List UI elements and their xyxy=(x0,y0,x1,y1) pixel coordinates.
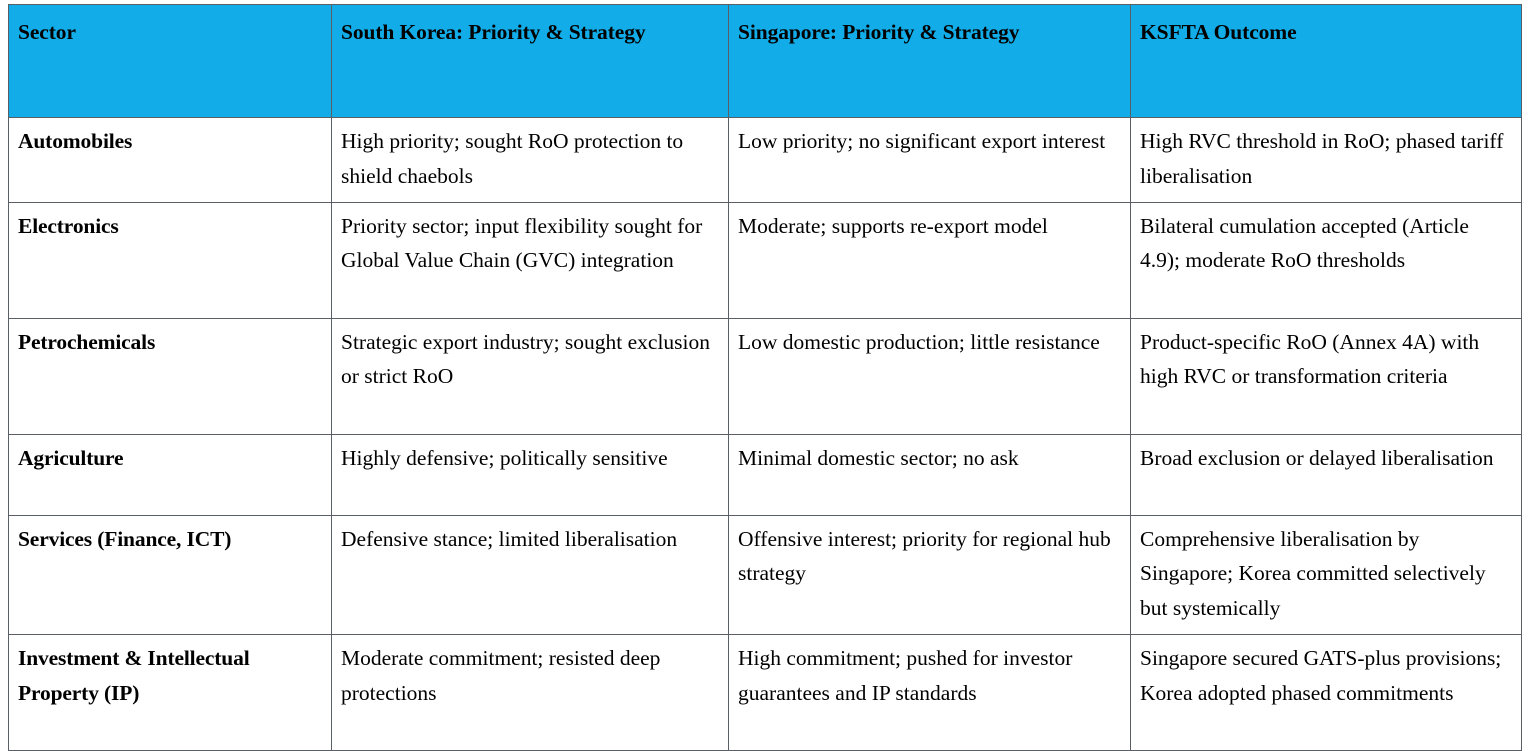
column-header-sector: Sector xyxy=(9,5,332,118)
table-row: Services (Finance, ICT) Defensive stance… xyxy=(9,515,1522,634)
table-row: Electronics Priority sector; input flexi… xyxy=(9,202,1522,318)
column-header-ksfta-outcome: KSFTA Outcome xyxy=(1131,5,1522,118)
cell-south-korea: High priority; sought RoO protection to … xyxy=(332,118,729,203)
cell-ksfta-outcome: Comprehensive liberalisation by Singapor… xyxy=(1131,515,1522,634)
cell-singapore: High commitment; pushed for investor gua… xyxy=(729,635,1131,751)
table-header: Sector South Korea: Priority & Strategy … xyxy=(9,5,1522,118)
cell-ksfta-outcome: High RVC threshold in RoO; phased tariff… xyxy=(1131,118,1522,203)
cell-sector: Electronics xyxy=(9,202,332,318)
cell-sector: Investment & Intellectual Property (IP) xyxy=(9,635,332,751)
cell-south-korea: Moderate commitment; resisted deep prote… xyxy=(332,635,729,751)
column-header-singapore: Singapore: Priority & Strategy xyxy=(729,5,1131,118)
cell-ksfta-outcome: Product-specific RoO (Annex 4A) with hig… xyxy=(1131,318,1522,434)
cell-south-korea: Defensive stance; limited liberalisation xyxy=(332,515,729,634)
table-header-row: Sector South Korea: Priority & Strategy … xyxy=(9,5,1522,118)
cell-sector: Agriculture xyxy=(9,434,332,515)
cell-ksfta-outcome: Singapore secured GATS-plus provisions; … xyxy=(1131,635,1522,751)
table-row: Agriculture Highly defensive; politicall… xyxy=(9,434,1522,515)
table-row: Automobiles High priority; sought RoO pr… xyxy=(9,118,1522,203)
cell-singapore: Offensive interest; priority for regiona… xyxy=(729,515,1131,634)
cell-singapore: Minimal domestic sector; no ask xyxy=(729,434,1131,515)
column-header-south-korea: South Korea: Priority & Strategy xyxy=(332,5,729,118)
cell-singapore: Low domestic production; little resistan… xyxy=(729,318,1131,434)
cell-sector: Petrochemicals xyxy=(9,318,332,434)
sector-comparison-table-wrapper: Sector South Korea: Priority & Strategy … xyxy=(8,4,1521,751)
cell-ksfta-outcome: Broad exclusion or delayed liberalisatio… xyxy=(1131,434,1522,515)
cell-ksfta-outcome: Bilateral cumulation accepted (Article 4… xyxy=(1131,202,1522,318)
cell-south-korea: Strategic export industry; sought exclus… xyxy=(332,318,729,434)
cell-singapore: Low priority; no significant export inte… xyxy=(729,118,1131,203)
cell-south-korea: Priority sector; input flexibility sough… xyxy=(332,202,729,318)
table-row: Petrochemicals Strategic export industry… xyxy=(9,318,1522,434)
table-body: Automobiles High priority; sought RoO pr… xyxy=(9,118,1522,751)
cell-south-korea: Highly defensive; politically sensitive xyxy=(332,434,729,515)
cell-sector: Services (Finance, ICT) xyxy=(9,515,332,634)
sector-comparison-table: Sector South Korea: Priority & Strategy … xyxy=(8,4,1522,751)
table-row: Investment & Intellectual Property (IP) … xyxy=(9,635,1522,751)
cell-singapore: Moderate; supports re-export model xyxy=(729,202,1131,318)
cell-sector: Automobiles xyxy=(9,118,332,203)
